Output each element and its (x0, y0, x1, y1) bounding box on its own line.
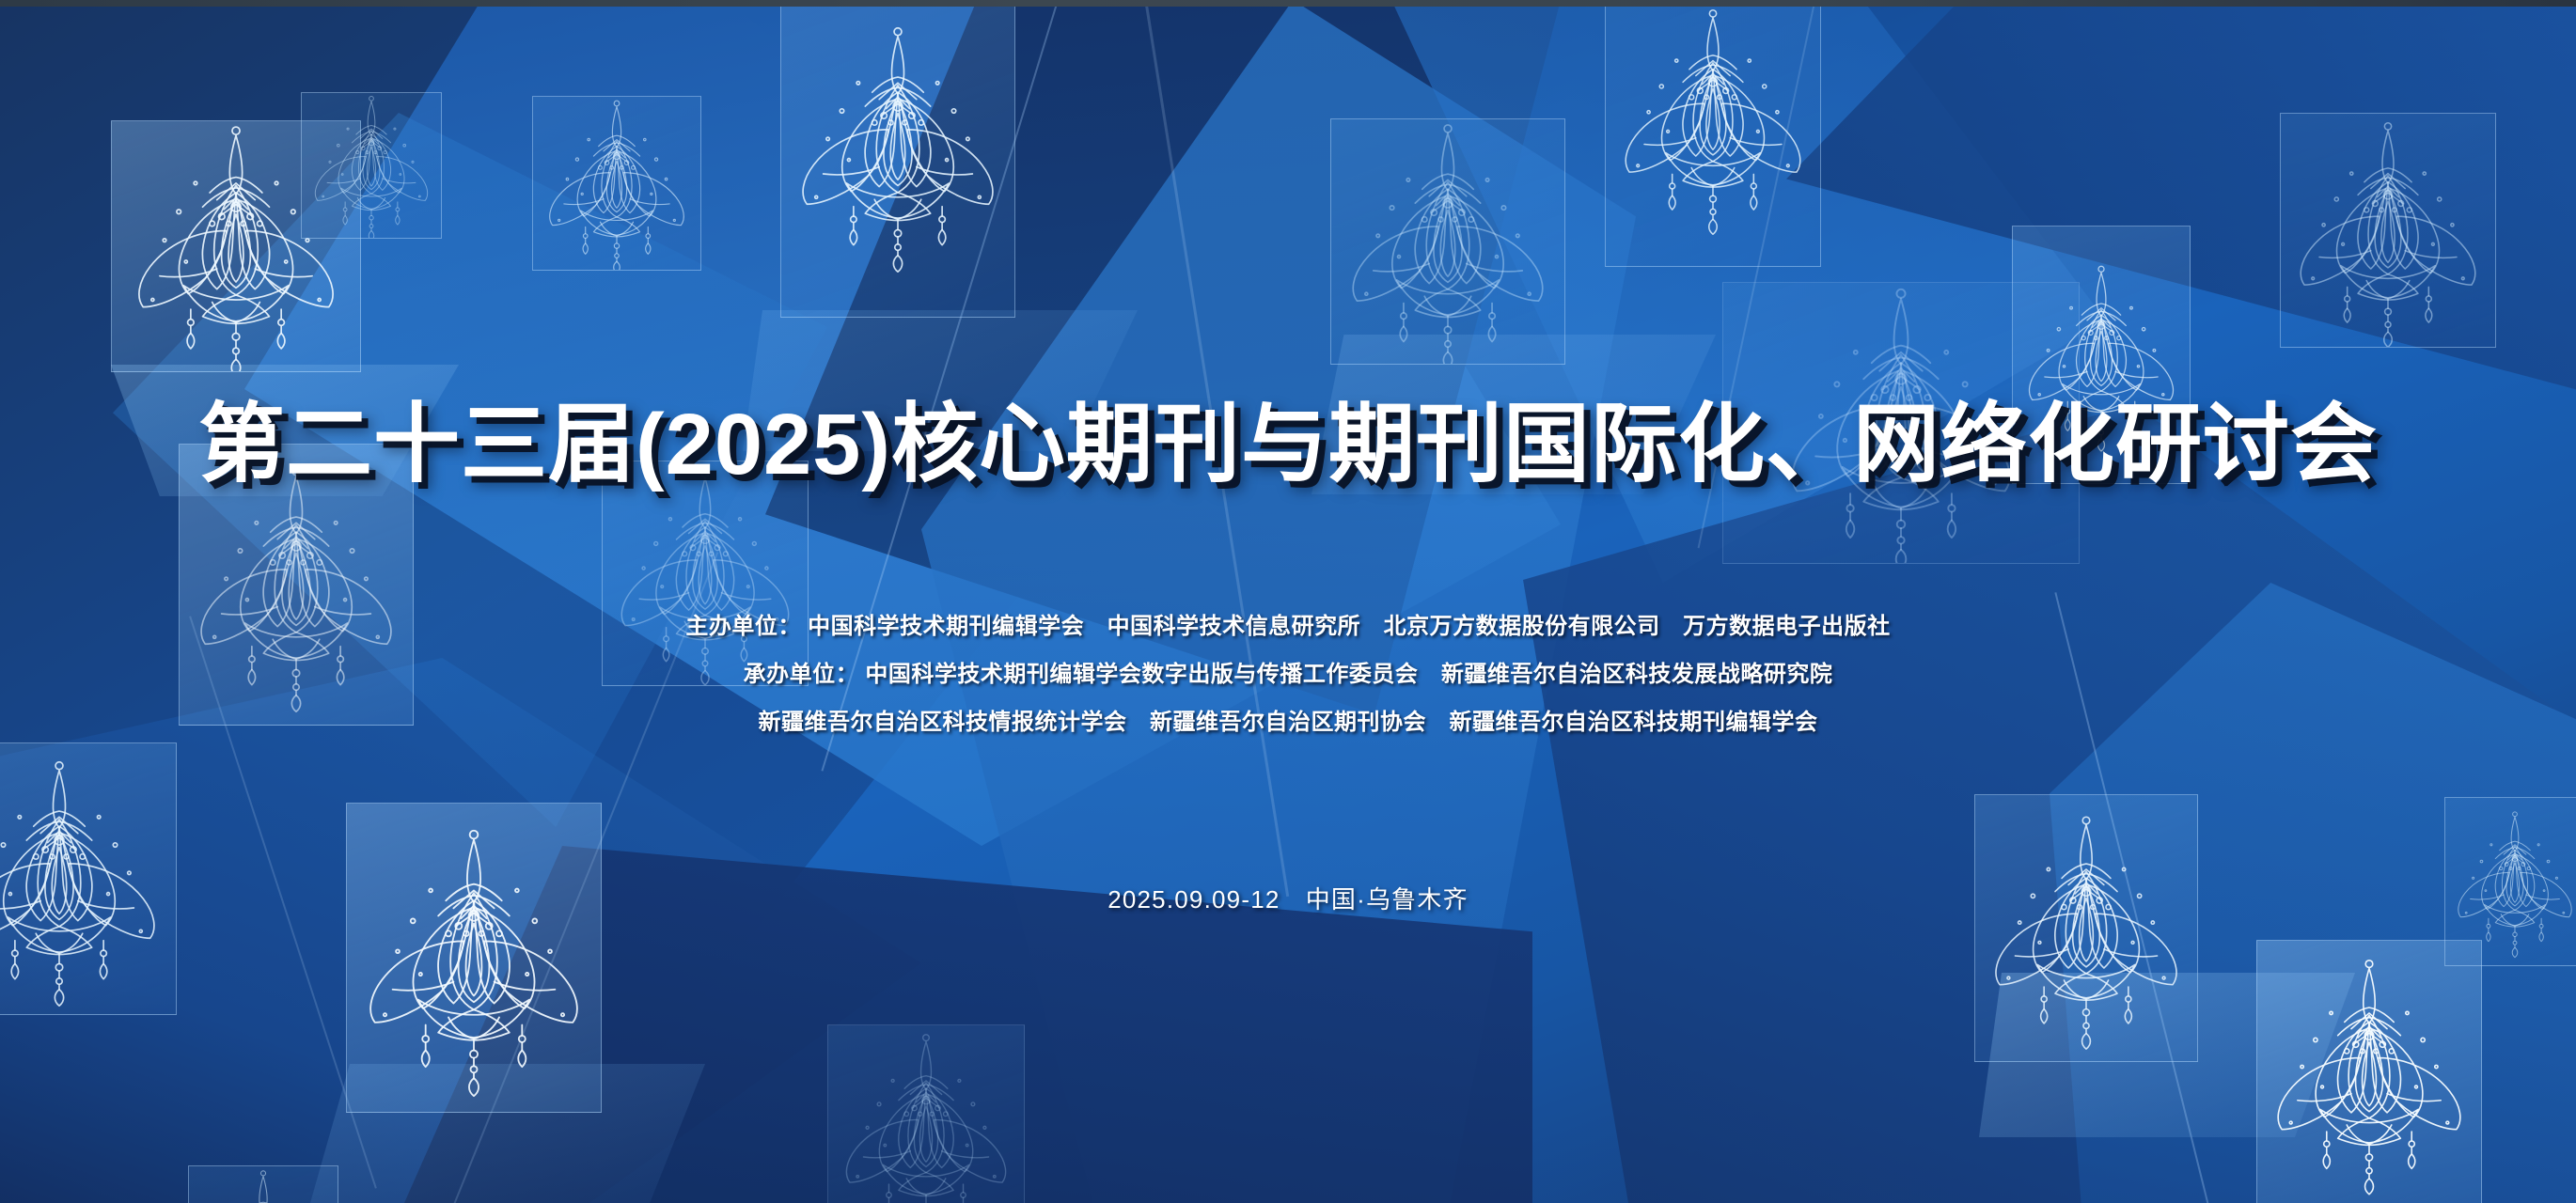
host-organizers-line: 主办单位： 中国科学技术期刊编辑学会 中国科学技术信息研究所 北京万方数据股份有… (0, 616, 2576, 638)
organizers-block: 主办单位： 中国科学技术期刊编辑学会 中国科学技术信息研究所 北京万方数据股份有… (0, 616, 2576, 759)
date-location-line: 2025.09.09-12 中国·乌鲁木齐 (0, 881, 2576, 915)
conference-banner: 第二十三届(2025)核心期刊与期刊国际化、网络化研讨会 主办单位： 中国科学技… (0, 0, 2576, 1203)
top-edge-strip (0, 0, 2576, 7)
page-title: 第二十三届(2025)核心期刊与期刊国际化、网络化研讨会 (0, 374, 2576, 499)
coorganizers-line-1: 承办单位： 中国科学技术期刊编辑学会数字出版与传播工作委员会 新疆维吾尔自治区科… (0, 664, 2576, 686)
coorganizers-line-2: 新疆维吾尔自治区科技情报统计学会 新疆维吾尔自治区期刊协会 新疆维吾尔自治区科技… (0, 711, 2576, 734)
banner-content: 第二十三届(2025)核心期刊与期刊国际化、网络化研讨会 主办单位： 中国科学技… (0, 0, 2576, 1203)
